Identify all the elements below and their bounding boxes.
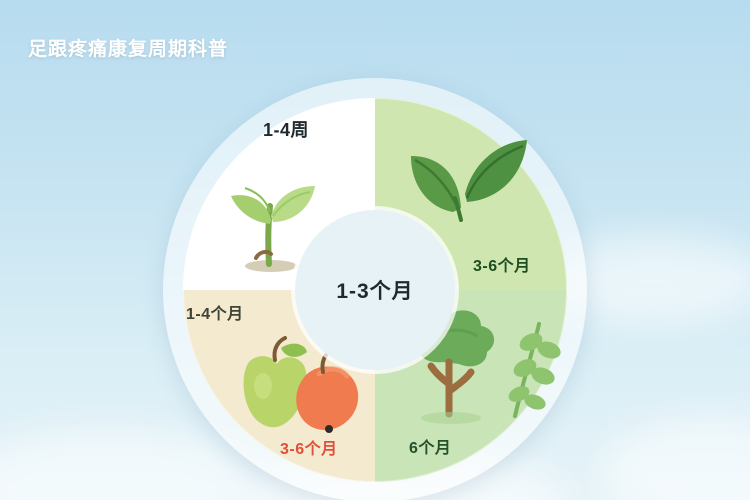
page-title: 足跟疼痛康复周期科普 [28,34,228,61]
segment-label-bottom-right: 6个月 [409,434,451,458]
segment-label-bottom-left: 1-4个月 [186,300,244,324]
recovery-cycle-wheel: 1-3个月 1-4周 3-6个月 1-4个月 3-6个月 6个月 [163,78,587,500]
segment-label-top-right: 3-6个月 [473,252,531,276]
segment-label-top-left: 1-4周 [263,116,309,142]
wheel-center-hub: 1-3个月 [295,210,455,370]
cloud-haze-bottom-right [600,418,750,500]
diagram-canvas: 足跟疼痛康复周期科普 [0,0,750,500]
segment-label-bottom-left-alt: 3-6个月 [280,435,338,459]
center-label: 1-3个月 [336,275,413,305]
